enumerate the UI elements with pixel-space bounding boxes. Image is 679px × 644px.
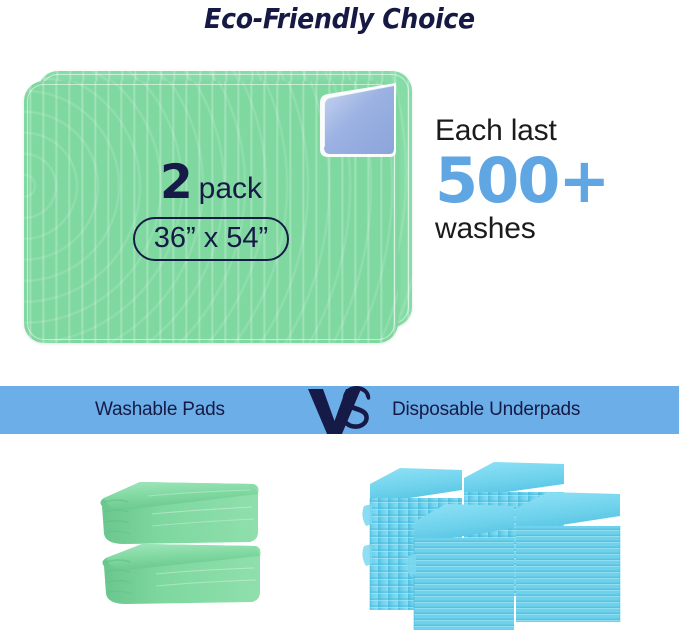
vs-icon	[306, 383, 378, 437]
infographic-root: Eco-Friendly Choice	[0, 0, 679, 644]
pack-count-line: 2 pack	[24, 159, 398, 206]
comparison-left-label: Washable Pads	[95, 399, 225, 421]
pad-stack-illustration: 2 pack 36” x 54”	[24, 71, 414, 341]
disposable-stacks-illustration	[358, 446, 638, 631]
comparison-right-label: Disposable Underpads	[392, 399, 580, 421]
pack-count-word: pack	[199, 174, 262, 204]
comparison-banner: Washable Pads Disposable Underpads	[0, 386, 679, 434]
durability-claim: Each last 500+ washes	[435, 115, 667, 244]
hero-section: 2 pack 36” x 54” Each last 500+ washes	[0, 55, 679, 355]
pad-text-overlay: 2 pack 36” x 54”	[24, 159, 398, 261]
durability-highlight: 500+	[435, 149, 667, 212]
durability-line-1: Each last	[435, 115, 667, 147]
folded-washable-pads-illustration	[86, 462, 256, 612]
pack-count-number: 2	[160, 159, 192, 206]
comparison-products	[0, 434, 679, 644]
disposable-underpads-panel	[340, 434, 679, 644]
size-badge: 36” x 54”	[133, 217, 289, 261]
page-title: Eco-Friendly Choice	[0, 2, 679, 35]
durability-line-2: washes	[435, 213, 667, 245]
washable-pads-panel	[0, 434, 340, 644]
